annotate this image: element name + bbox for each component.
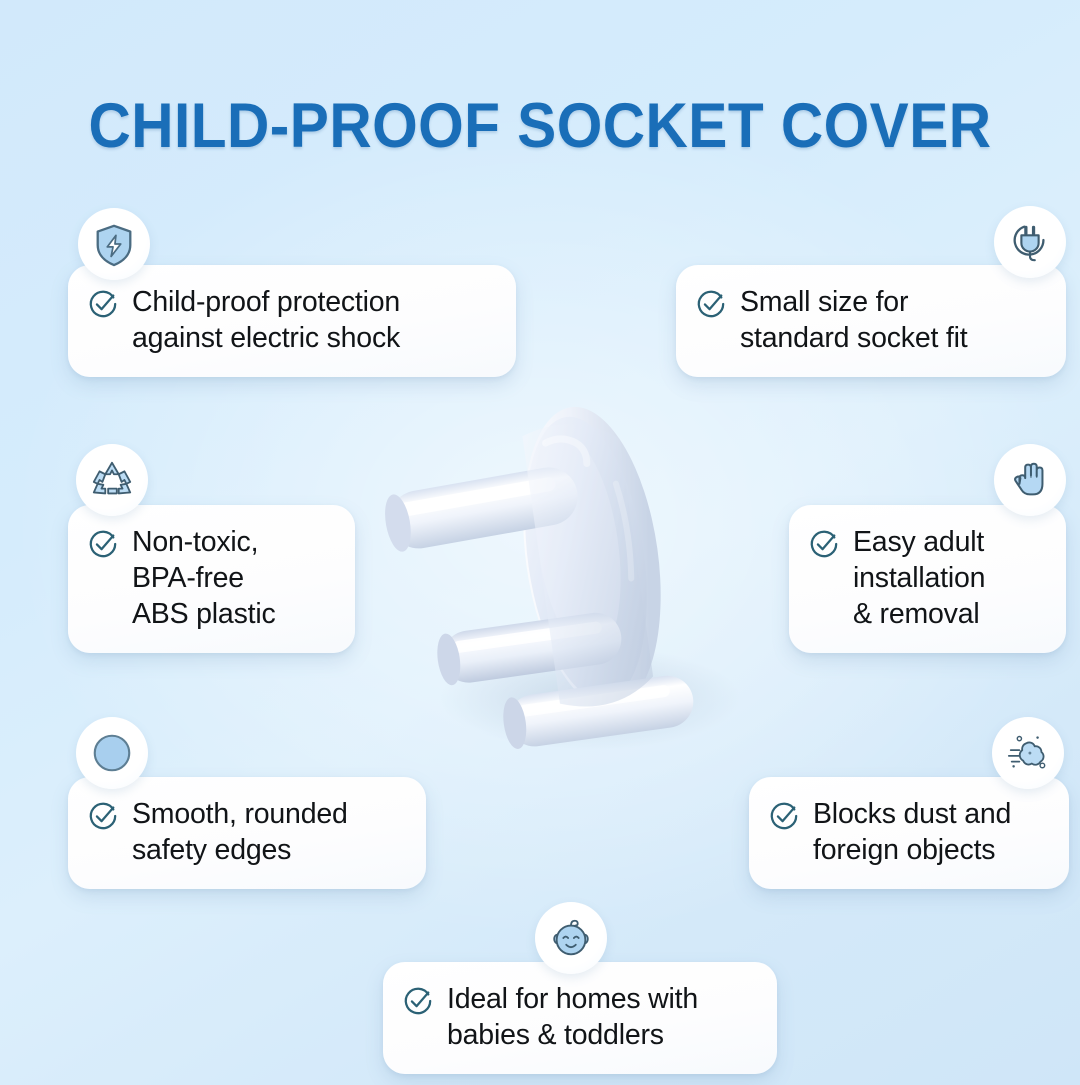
feature-text: Non-toxic, BPA-free ABS plastic: [132, 525, 276, 633]
dust-cloud-icon: [992, 717, 1064, 789]
hand-icon: [994, 444, 1066, 516]
feature-card-easy-installation: Easy adult installation & removal: [789, 505, 1066, 653]
check-circle-icon: [88, 529, 118, 559]
feature-card-small-size: Small size for standard socket fit: [676, 265, 1066, 377]
feature-text: Smooth, rounded safety edges: [132, 797, 348, 869]
infographic-poster: CHILD-PROOF SOCKET COVER: [0, 0, 1080, 1085]
feature-text: Ideal for homes with babies & toddlers: [447, 982, 698, 1054]
feature-card-child-proof-protection: Child-proof protection against electric …: [68, 265, 516, 377]
product-image: [380, 368, 780, 768]
baby-face-icon: [535, 902, 607, 974]
check-circle-icon: [88, 289, 118, 319]
feature-card-ideal-for-homes: Ideal for homes with babies & toddlers: [383, 962, 777, 1074]
feature-card-non-toxic: Non-toxic, BPA-free ABS plastic: [68, 505, 355, 653]
rounded-circle-icon: [76, 717, 148, 789]
check-circle-icon: [403, 986, 433, 1016]
page-title: CHILD-PROOF SOCKET COVER: [38, 90, 1042, 162]
check-circle-icon: [88, 801, 118, 831]
check-circle-icon: [769, 801, 799, 831]
shield-bolt-icon: [78, 208, 150, 280]
feature-text: Child-proof protection against electric …: [132, 285, 400, 357]
feature-card-blocks-dust: Blocks dust and foreign objects: [749, 777, 1069, 889]
check-circle-icon: [809, 529, 839, 559]
check-circle-icon: [696, 289, 726, 319]
feature-card-smooth-edges: Smooth, rounded safety edges: [68, 777, 426, 889]
plug-icon: [994, 206, 1066, 278]
recycle-icon: [76, 444, 148, 516]
feature-text: Easy adult installation & removal: [853, 525, 985, 633]
feature-text: Blocks dust and foreign objects: [813, 797, 1011, 869]
feature-text: Small size for standard socket fit: [740, 285, 967, 357]
